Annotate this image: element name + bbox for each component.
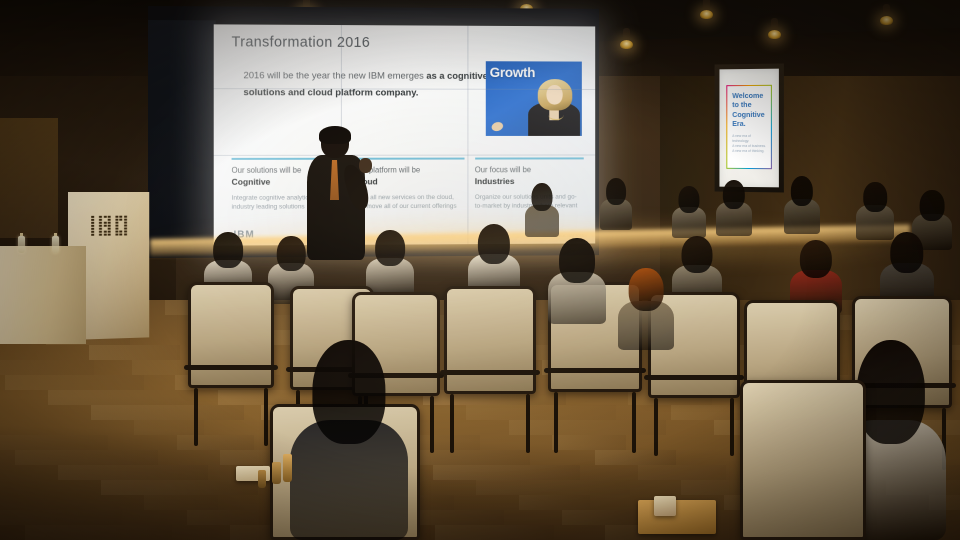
bottle-on-floor: [258, 470, 266, 488]
audience-member-head: [277, 236, 306, 271]
executive-necklace: [548, 109, 563, 120]
panel-seam: [214, 154, 595, 155]
chair-leg: [430, 396, 434, 453]
audience-member-back-row: [672, 186, 706, 238]
spotlight-lamp: [880, 16, 893, 25]
audience-member-head: [800, 240, 832, 278]
chair-leg: [264, 388, 268, 446]
chair-back: [188, 282, 274, 388]
chair-leg: [632, 392, 636, 453]
kiosk-poster: Welcome to the Cognitive Era. A new era …: [726, 85, 772, 169]
slide-lead-prefix: 2016 will be the year the new IBM emerge…: [243, 70, 426, 81]
audience-member-head: [920, 190, 945, 221]
audience-member-head: [890, 232, 923, 273]
portrait-kiosk-display: Welcome to the Cognitive Era. A new era …: [715, 64, 784, 193]
audience-member-row3: [548, 238, 606, 324]
left-wall-panel: [0, 118, 58, 238]
chair-leg: [194, 388, 198, 446]
chair-leg: [526, 394, 530, 453]
chair-armrest: [184, 365, 278, 370]
executive-hand: [491, 121, 504, 132]
audience-member-head: [682, 236, 713, 273]
panel-seam: [467, 26, 468, 244]
chair-armrest: [544, 368, 646, 373]
chair-armrest: [644, 375, 744, 380]
spotlight-lamp: [700, 10, 713, 19]
audience-member-head: [559, 238, 595, 283]
presenter-hand: [359, 158, 372, 173]
audience-chair: [740, 380, 866, 540]
audience-member-head: [478, 224, 510, 264]
audience-member-back-row: [716, 180, 752, 236]
audience-member-back-row: [600, 178, 632, 230]
ibm-logo-stripe-column: [116, 216, 119, 236]
audience-member-foreground: [290, 340, 408, 540]
slide-lead-paragraph: 2016 will be the year the new IBM emerge…: [243, 68, 495, 101]
audience-member-head: [857, 340, 925, 444]
presenter-hair: [319, 126, 351, 144]
ibm-logo-stripe-column: [103, 216, 106, 236]
spotlight-lamp: [620, 40, 633, 49]
presentation-room-photo: Transformation 2016 2016 will be the yea…: [0, 0, 960, 540]
growth-photo: Growth: [486, 61, 582, 136]
chair-leg: [730, 398, 734, 456]
water-bottle: [18, 236, 25, 253]
audience-member-head: [375, 230, 405, 266]
kiosk-bullet-lines: A new era of technology.A new era of bus…: [732, 134, 767, 155]
kiosk-screen: Welcome to the Cognitive Era. A new era …: [719, 69, 778, 188]
cardboard-box-on-floor: [638, 500, 716, 534]
chair-leg: [450, 394, 454, 453]
bottle-on-floor: [283, 454, 292, 482]
kiosk-line: A new era of technology.: [732, 134, 767, 144]
audience-member-head: [678, 186, 699, 213]
audience-member-red-hair: [618, 268, 674, 350]
audience-member-back-row: [784, 176, 820, 234]
ibm-logo-stripe-column: [112, 216, 115, 236]
side-counter: [0, 246, 86, 344]
chair-back: [740, 380, 866, 540]
spotlight-lamp: [768, 30, 781, 39]
bottle-on-floor: [272, 462, 281, 484]
column-rule: [475, 157, 584, 159]
chair-leg: [554, 392, 558, 453]
audience-member-head: [606, 178, 626, 205]
ibm-logo-stripe-column: [124, 216, 127, 236]
water-bottle: [52, 236, 59, 253]
audience-chair: [444, 286, 536, 394]
chair-back: [444, 286, 536, 394]
executive-face: [546, 85, 562, 105]
audience-chair: [188, 282, 274, 388]
audience-member-head: [863, 182, 887, 212]
column-kicker: Our focus will be: [475, 165, 584, 176]
growth-label: Growth: [490, 64, 535, 80]
ibm-logo-stripe-column: [95, 216, 98, 236]
box-contents: [654, 496, 676, 516]
audience-member-head: [723, 180, 745, 209]
slide-title: Transformation 2016: [232, 34, 371, 51]
ibm-logo-stripe-column: [120, 216, 123, 236]
audience-member-back-row: [525, 183, 559, 237]
audience-member-head: [213, 232, 243, 268]
kiosk-heading: Welcome to the Cognitive Era.: [732, 91, 767, 129]
chair-armrest: [440, 370, 540, 375]
audience-member-head: [629, 268, 664, 311]
audience-member-head: [531, 183, 552, 211]
audience-member-head: [791, 176, 813, 206]
ibm-logo-stripe-column: [107, 216, 110, 236]
ibm-logo: [91, 216, 126, 236]
video-wall-bezel: [148, 20, 216, 248]
kiosk-line: A new era of thinking.: [732, 149, 767, 154]
audience-member-head: [312, 340, 385, 444]
ibm-logo-stripe-column: [99, 216, 102, 236]
chair-leg: [654, 398, 658, 456]
ibm-logo-stripe-column: [91, 216, 94, 236]
